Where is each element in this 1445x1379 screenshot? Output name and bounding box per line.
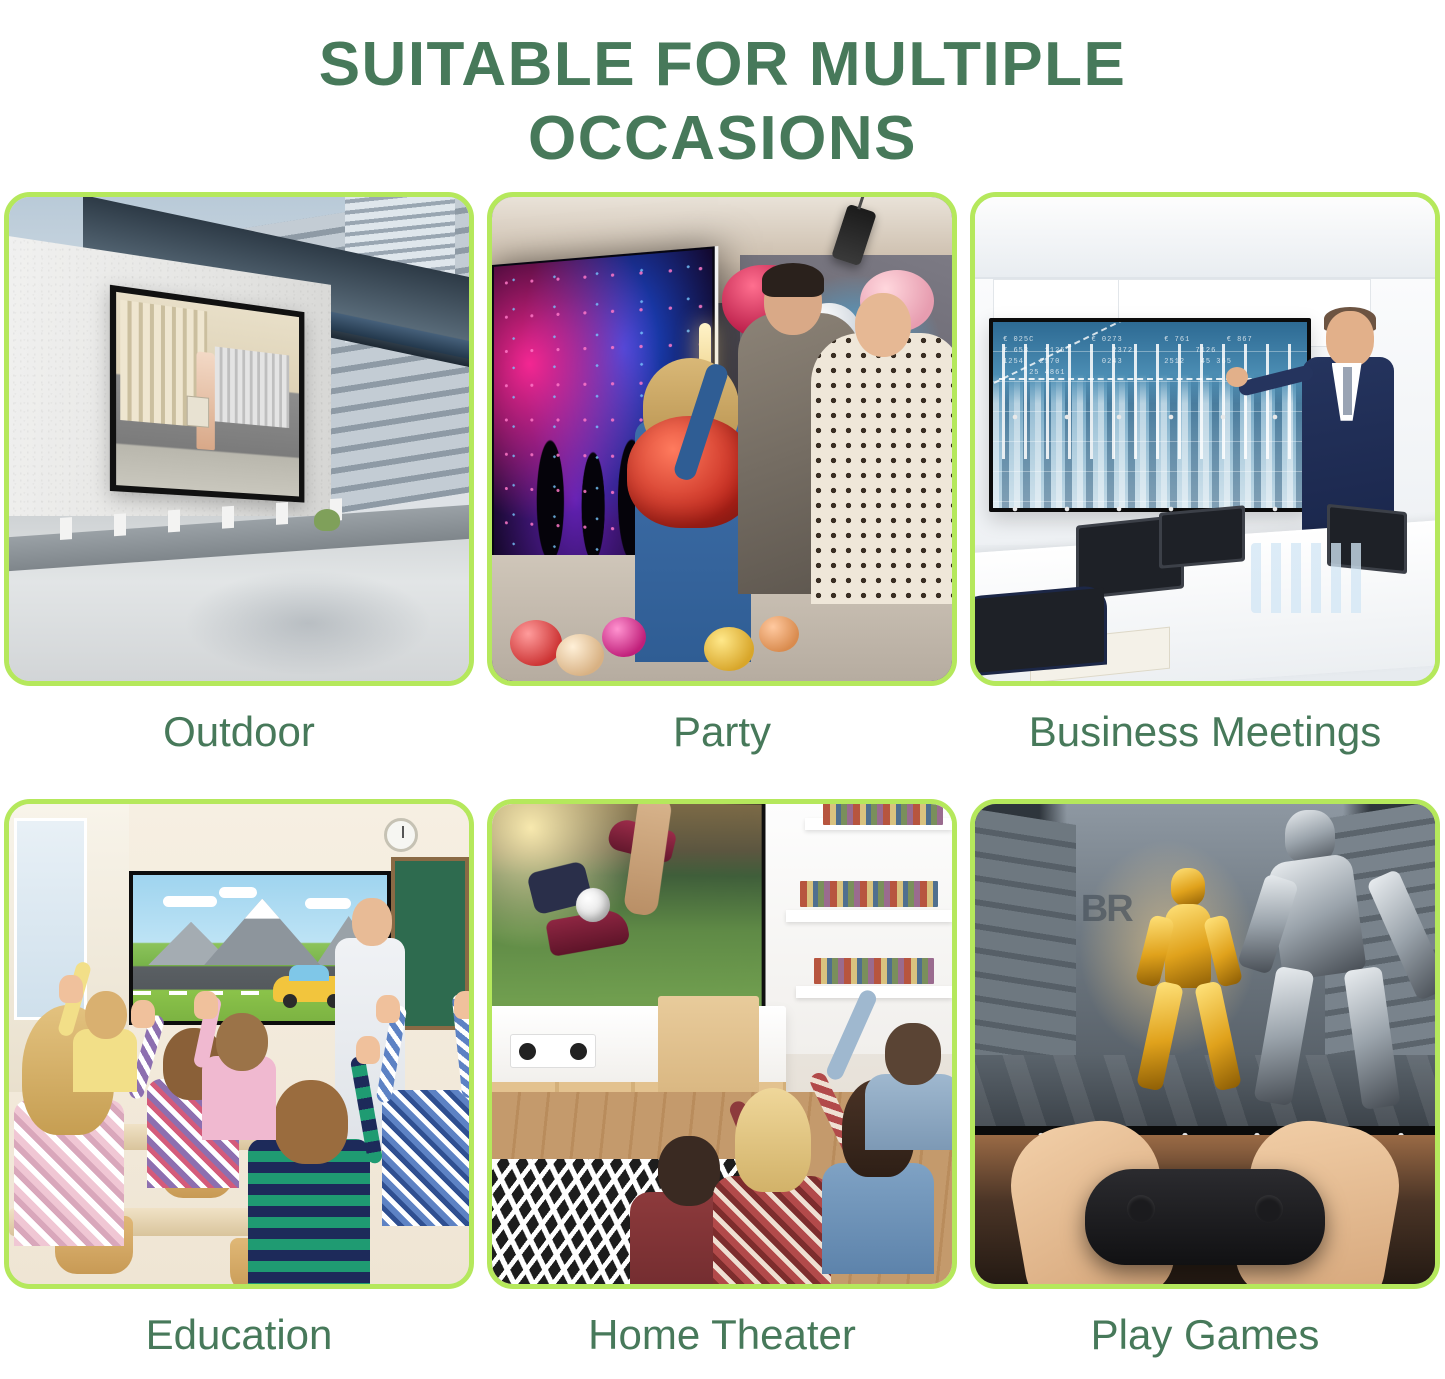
head <box>274 1080 348 1164</box>
hand <box>194 991 218 1019</box>
hand-right <box>454 991 469 1019</box>
occasion-image-play-games[interactable]: BR <box>970 799 1440 1289</box>
hand <box>59 975 83 1003</box>
necktie <box>1343 367 1352 415</box>
mountain-center-snowcap <box>204 899 321 966</box>
occasion-caption-outdoor: Outdoor <box>4 686 474 762</box>
projection-screen <box>492 804 766 1022</box>
ground-shadow <box>184 570 432 676</box>
projected-soccer-image <box>492 804 762 1017</box>
books-mid <box>800 881 938 907</box>
head <box>1171 868 1205 906</box>
torso <box>1165 904 1211 988</box>
occasion-image-party[interactable] <box>487 192 957 686</box>
party-scene <box>492 197 952 681</box>
shirt <box>865 1074 952 1150</box>
wall-clock <box>384 818 418 852</box>
home-theater-scene <box>492 804 952 1284</box>
head <box>1326 311 1374 367</box>
shrub <box>314 509 340 531</box>
handbag <box>187 395 209 427</box>
head <box>658 1136 720 1206</box>
occasion-image-business[interactable]: € 025C € 0273 € 761 € 867€ 653 1125 2372… <box>970 192 1440 686</box>
wall-label: BR <box>1081 888 1132 931</box>
occasion-cell-home-theater: Home Theater <box>487 799 957 1365</box>
product-feature-page: SUITABLE FOR MULTIPLE OCCASIONS <box>0 0 1445 1379</box>
stereo-device <box>510 1034 596 1068</box>
head <box>885 1023 941 1085</box>
head <box>85 991 127 1039</box>
occasion-image-outdoor[interactable] <box>4 192 474 686</box>
robot-chrome <box>1257 810 1407 1080</box>
wall-panels-left <box>975 809 1076 1082</box>
screen-grommets-bottom <box>989 506 1311 512</box>
books-low <box>814 958 934 984</box>
outdoor-scene <box>9 197 469 681</box>
cloud-1 <box>163 896 217 907</box>
occasion-cell-party: Party <box>487 192 957 762</box>
books-top <box>823 804 943 825</box>
classroom-scene <box>9 804 469 1284</box>
occasion-cell-play-games: BR <box>970 799 1440 1365</box>
page-title: SUITABLE FOR MULTIPLE OCCASIONS <box>163 0 1283 176</box>
shirt <box>713 1176 831 1284</box>
cloud-2 <box>219 887 257 898</box>
projection-screen: BR <box>975 804 1435 1126</box>
occasion-cell-business: € 025C € 0273 € 761 € 867€ 653 1125 2372… <box>970 192 1440 762</box>
viewer-back-man <box>865 1034 952 1149</box>
occasion-cell-education: Education <box>4 799 474 1365</box>
occasion-caption-business: Business Meetings <box>970 686 1440 762</box>
student-right-plaid <box>382 1006 469 1227</box>
projected-image <box>116 291 299 496</box>
game-controller[interactable] <box>1085 1169 1325 1265</box>
projection-screen: € 025C € 0273 € 761 € 867€ 653 1125 2372… <box>989 318 1311 512</box>
occasion-caption-home-theater: Home Theater <box>487 1289 957 1365</box>
soccer-ball <box>575 888 609 922</box>
student-yellow-far <box>73 986 137 1092</box>
occasion-image-education[interactable] <box>4 799 474 1289</box>
cloud-3 <box>305 898 351 909</box>
occasion-caption-play-games: Play Games <box>970 1289 1440 1365</box>
occasion-image-home-theater[interactable] <box>487 799 957 1289</box>
gaming-scene: BR <box>975 804 1435 1284</box>
occasion-caption-party: Party <box>487 686 957 762</box>
wheel-front <box>283 994 297 1008</box>
water-bottles-and-glasses <box>1251 543 1371 613</box>
hair <box>735 1088 811 1192</box>
student-pink-girl <box>202 996 276 1140</box>
shirt <box>822 1163 934 1274</box>
occasion-caption-education: Education <box>4 1289 474 1365</box>
floor-balloon-3 <box>602 617 646 657</box>
hair <box>762 263 824 297</box>
pointing-hand <box>1226 367 1248 387</box>
background-building <box>215 346 289 427</box>
hand <box>356 1036 380 1064</box>
bookshelf-mid <box>786 910 952 922</box>
head <box>216 1013 268 1071</box>
laptop-2 <box>1159 505 1245 569</box>
occasion-grid: Outdoor <box>4 192 1441 1365</box>
occasion-cell-outdoor: Outdoor <box>4 192 474 762</box>
projection-screen <box>110 284 305 502</box>
business-meeting-scene: € 025C € 0273 € 761 € 867€ 653 1125 2372… <box>975 197 1435 681</box>
attendee-dark-suit <box>975 585 1107 678</box>
floor-balloon-5 <box>759 616 799 652</box>
viewer-plaid-blonde <box>713 1111 831 1284</box>
ceiling <box>975 197 1435 279</box>
person-woman-leopard <box>811 333 952 604</box>
head <box>352 898 392 946</box>
robot-gold <box>1141 868 1237 1067</box>
shirt <box>382 1090 469 1227</box>
floor-balloon-4 <box>704 627 754 671</box>
hand-left <box>376 995 400 1023</box>
head <box>855 293 911 357</box>
screen-grommets-top <box>989 318 1311 512</box>
